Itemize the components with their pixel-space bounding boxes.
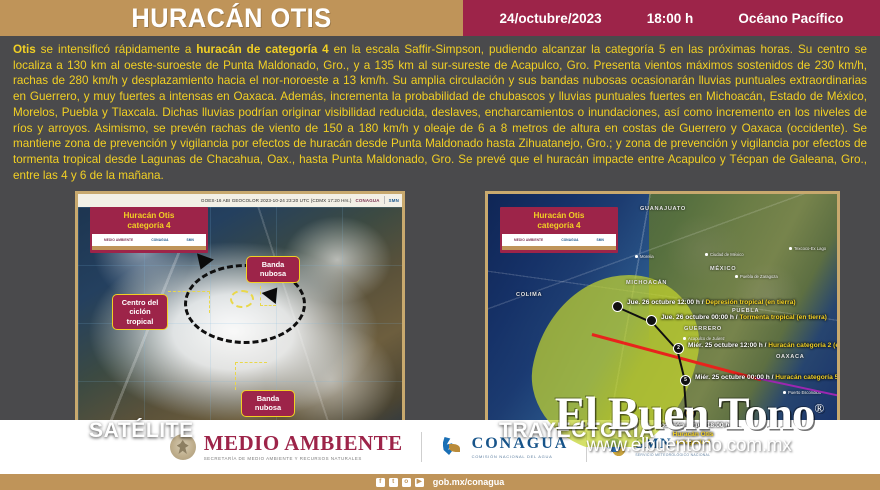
youtube-icon[interactable]: ▶ (415, 478, 424, 487)
infographic-page: HURACÁN OTIS 24/octubre/2023 18:00 h Océ… (0, 0, 880, 490)
city-label-acapulco: Acapulco de Juárez (688, 336, 725, 341)
trajectory-panel-caption: TRAYECTORIA (499, 419, 655, 443)
satellite-panel-caption: SATÉLITE (89, 419, 194, 443)
storm-eye-marker (230, 290, 254, 308)
conagua-subtitle: COMISIÓN NACIONAL DEL AGUA (472, 454, 569, 459)
trajectory-panel: GUANAJUATO JALISCO COLIMA MICHOACÁN MÉXI… (485, 191, 840, 450)
medio-ambiente-title: MEDIO AMBIENTE (204, 433, 403, 454)
track-label-depresion-tropical: Jue. 26 octubre 12:00 h / Depresión trop… (627, 299, 796, 306)
header-basin: Océano Pacífico (738, 11, 843, 26)
bulletin-category: huracán de categoría 4 (196, 43, 328, 56)
traj-badge-smn-logo: SMN (597, 238, 604, 242)
medio-ambiente-subtitle: SECRETARÍA DE MEDIO AMBIENTE Y RECURSOS … (204, 456, 403, 461)
page-title: HURACÁN OTIS (131, 5, 331, 32)
conagua-eagle-water-icon (440, 435, 464, 459)
traj-badge-footer-bar (502, 246, 616, 250)
geo-label-mexico: MÉXICO (710, 266, 736, 272)
smn-logo-small: SMN (389, 198, 399, 203)
footer-social-bar: f t o ▶ gob.mx/conagua (0, 474, 880, 490)
conagua-logo-small: CONAGUA (356, 198, 380, 203)
track-time-3: Miér. 25 octubre 00:00 h / (695, 374, 775, 381)
bulletin-seg-5: Su amplia circulación y sus bandas nubos… (13, 74, 867, 181)
medio-ambiente-logo-group: MEDIO AMBIENTE SECRETARÍA DE MEDIO AMBIE… (170, 433, 403, 461)
track-point-depresion-tropical (612, 301, 623, 312)
geo-label-guerrero: GUERRERO (684, 326, 722, 332)
track-point-current-position (684, 407, 696, 419)
track-label-huracan-cat-5: Miér. 25 octubre 00:00 h / Huracán categ… (695, 374, 838, 381)
geo-label-michoacan: MICHOACÁN (626, 280, 667, 286)
callout-banda-nubosa-top: Banda nubosa (246, 256, 300, 283)
satellite-metadata-text: GOES-16 ABI GEOCOLOR 2023-10-24 23:20 UT… (201, 198, 352, 203)
badge-storm-category: categoría 4 (92, 221, 206, 231)
track-point-huracan-cat-2: 2 (673, 343, 684, 354)
panels-row: GOES-16 ABI GEOCOLOR 2023-10-24 23:20 UT… (0, 188, 880, 450)
bulletin-text: Otis se intensificó rápidamente a huracá… (0, 36, 880, 188)
satellite-info-strip: GOES-16 ABI GEOCOLOR 2023-10-24 23:20 UT… (78, 194, 402, 207)
traj-badge-logo-strip: MEDIO AMBIENTE CONAGUA SMN (502, 234, 616, 246)
header-meta-zone: 24/octubre/2023 18:00 h Océano Pacífico (463, 0, 880, 36)
medio-ambiente-text: MEDIO AMBIENTE SECRETARÍA DE MEDIO AMBIE… (204, 433, 403, 461)
footer-divider (421, 432, 422, 462)
geo-label-colima: COLIMA (516, 292, 542, 298)
leader-line-banda-top (260, 286, 276, 306)
divider (384, 196, 385, 204)
city-label-ciudad-de-mexico: Ciudad de México (710, 252, 744, 257)
badge-storm-name: Huracán Otis (92, 211, 206, 221)
track-category-0: Depresión tropical (en tierra) (705, 299, 795, 306)
smn-subtitle: SERVICIO METEOROLÓGICO NACIONAL (635, 453, 710, 457)
traj-badge-storm-category: categoría 4 (502, 221, 616, 231)
city-label-puebla-de-zaragoza: Puebla de Zaragoza (740, 274, 778, 279)
badge-logo-strip: MEDIO AMBIENTE CONAGUA SMN (92, 234, 206, 246)
footer-url[interactable]: gob.mx/conagua (433, 477, 505, 487)
track-point-huracan-cat-5: 5 (680, 375, 691, 386)
track-label-huracan-cat-2: Miér. 25 octubre 12:00 h / Huracán categ… (688, 342, 840, 349)
track-time-2: Miér. 25 octubre 12:00 h / (688, 342, 768, 349)
header-bar: HURACÁN OTIS 24/octubre/2023 18:00 h Océ… (0, 0, 880, 36)
track-time-0: Jue. 26 octubre 12:00 h / (627, 299, 705, 306)
city-label-morelia: Morelia (640, 254, 654, 259)
geo-label-oaxaca: OAXACA (776, 354, 804, 360)
badge-medio-ambiente-logo: MEDIO AMBIENTE (104, 238, 133, 242)
traj-badge-conagua-logo: CONAGUA (561, 238, 578, 242)
trajectory-storm-badge: Huracán Otis categoría 4 MEDIO AMBIENTE … (500, 207, 618, 254)
callout-banda-nubosa-bottom: Banda nubosa (241, 390, 295, 417)
traj-badge-storm-name: Huracán Otis (502, 211, 616, 221)
track-category-1: Tormenta tropical (en tierra) (739, 314, 826, 321)
badge-footer-bar (92, 246, 206, 250)
geo-label-guanajuato: GUANAJUATO (640, 206, 686, 212)
track-category-2: Huracán categoría 2 (en tierra) (768, 342, 840, 349)
track-time-1: Jue. 26 octubre 00:00 h / (661, 314, 739, 321)
badge-conagua-logo: CONAGUA (151, 238, 168, 242)
city-label-texcoco: Texcoco-Ex Lago (794, 246, 826, 251)
bulletin-seg-2: se intensificó rápidamente a (36, 43, 197, 56)
header-time: 18:00 h (647, 11, 694, 26)
header-title-zone: HURACÁN OTIS (0, 0, 463, 36)
leader-line-centro (168, 291, 210, 313)
badge-smn-logo: SMN (187, 238, 194, 242)
header-date: 24/octubre/2023 (500, 11, 602, 26)
instagram-icon[interactable]: o (402, 478, 411, 487)
track-category-3: Huracán categoría 5 (775, 374, 838, 381)
satellite-panel: GOES-16 ABI GEOCOLOR 2023-10-24 23:20 UT… (75, 191, 405, 450)
leader-line-banda-bottom (235, 362, 267, 390)
track-label-tormenta-tropical: Jue. 26 octubre 00:00 h / Tormenta tropi… (661, 314, 827, 321)
track-point-tormenta-tropical (646, 315, 657, 326)
traj-badge-medio-ambiente-logo: MEDIO AMBIENTE (514, 238, 543, 242)
callout-centro-ciclon: Centro del ciclón tropical (112, 294, 168, 331)
bulletin-storm-name: Otis (13, 43, 36, 56)
satellite-storm-badge: Huracán Otis categoría 4 MEDIO AMBIENTE … (90, 207, 208, 254)
facebook-icon[interactable]: f (376, 478, 385, 487)
twitter-icon[interactable]: t (389, 478, 398, 487)
